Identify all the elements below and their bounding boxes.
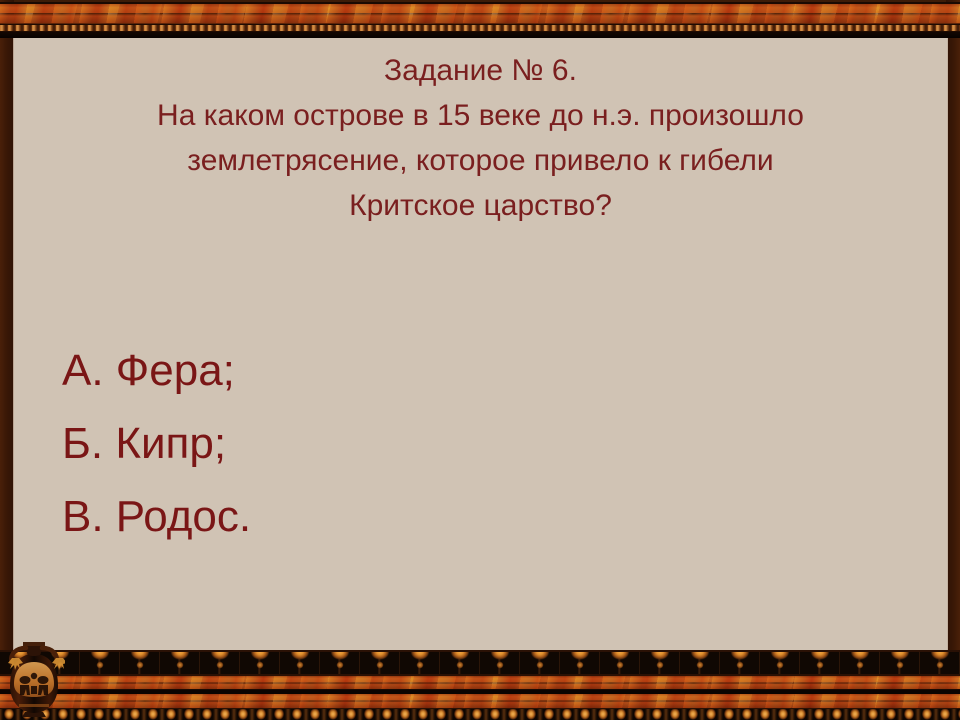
answer-option-a[interactable]: А. Фера; — [62, 334, 251, 407]
question-line-2: землетрясение, которое привело к гибели — [13, 138, 948, 183]
egg-and-dart-frieze-icon — [0, 708, 960, 720]
slide: Задание № 6. На каком острове в 15 веке … — [0, 0, 960, 720]
answer-option-c[interactable]: В. Родос. — [62, 480, 251, 553]
question-line-1: На каком острове в 15 веке до н.э. произ… — [13, 93, 948, 138]
copper-marble-band-icon — [0, 2, 960, 24]
answer-option-b[interactable]: Б. Кипр; — [62, 407, 251, 480]
right-frame-border — [946, 0, 960, 720]
greek-palmette-frieze-icon — [0, 650, 960, 676]
black-band-icon — [0, 32, 960, 38]
left-frame-border — [0, 0, 14, 720]
answer-list: А. Фера; Б. Кипр; В. Родос. — [62, 334, 251, 553]
copper-marble-band-lower-icon — [0, 676, 960, 690]
top-border — [0, 0, 960, 38]
beaded-band-icon — [0, 24, 960, 32]
question-block: Задание № 6. На каком острове в 15 веке … — [13, 48, 948, 228]
bottom-border — [0, 650, 960, 720]
question-line-3: Критское царство? — [13, 183, 948, 228]
greek-amphora-icon — [3, 642, 65, 718]
copper-marble-band-bottom-icon — [0, 694, 960, 708]
task-label: Задание № 6. — [13, 48, 948, 93]
